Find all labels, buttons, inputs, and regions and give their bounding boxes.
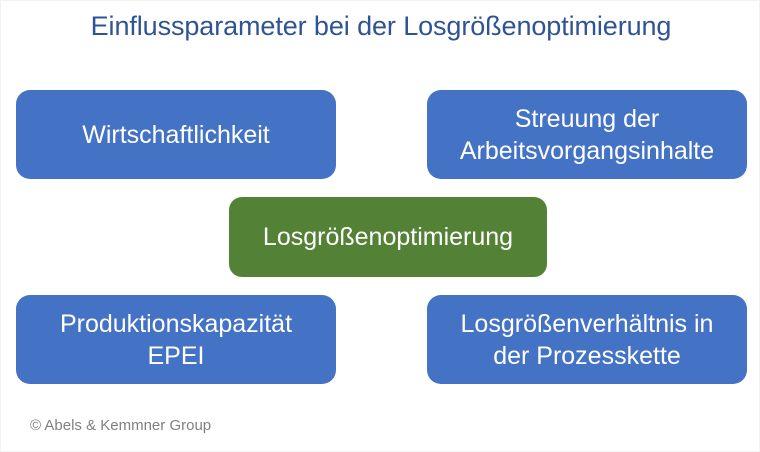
factor-box-produktionskapazitaet-epei: Produktionskapazität EPEI	[16, 295, 336, 384]
slide-canvas: Einflussparameter bei der Losgrößenoptim…	[0, 0, 760, 452]
page-title: Einflussparameter bei der Losgrößenoptim…	[1, 9, 760, 43]
factor-box-label: Streuung der Arbeitsvorgangsinhalte	[437, 103, 737, 167]
factor-box-losgroessenverhaeltnis-prozesskette: Losgrößenverhältnis in der Prozesskette	[427, 295, 747, 384]
factor-box-label: Wirtschaftlichkeit	[26, 119, 326, 151]
center-box-losgroessenoptimierung: Losgrößenoptimierung	[229, 197, 547, 277]
factor-box-label: Losgrößenverhältnis in der Prozesskette	[437, 308, 737, 372]
center-box-label: Losgrößenoptimierung	[239, 221, 537, 253]
factor-box-label: Produktionskapazität EPEI	[26, 308, 326, 372]
copyright-credit: © Abels & Kemmner Group	[30, 416, 211, 436]
factor-box-streuung-arbeitsvorgangsinhalte: Streuung der Arbeitsvorgangsinhalte	[427, 90, 747, 179]
factor-box-wirtschaftlichkeit: Wirtschaftlichkeit	[16, 90, 336, 179]
